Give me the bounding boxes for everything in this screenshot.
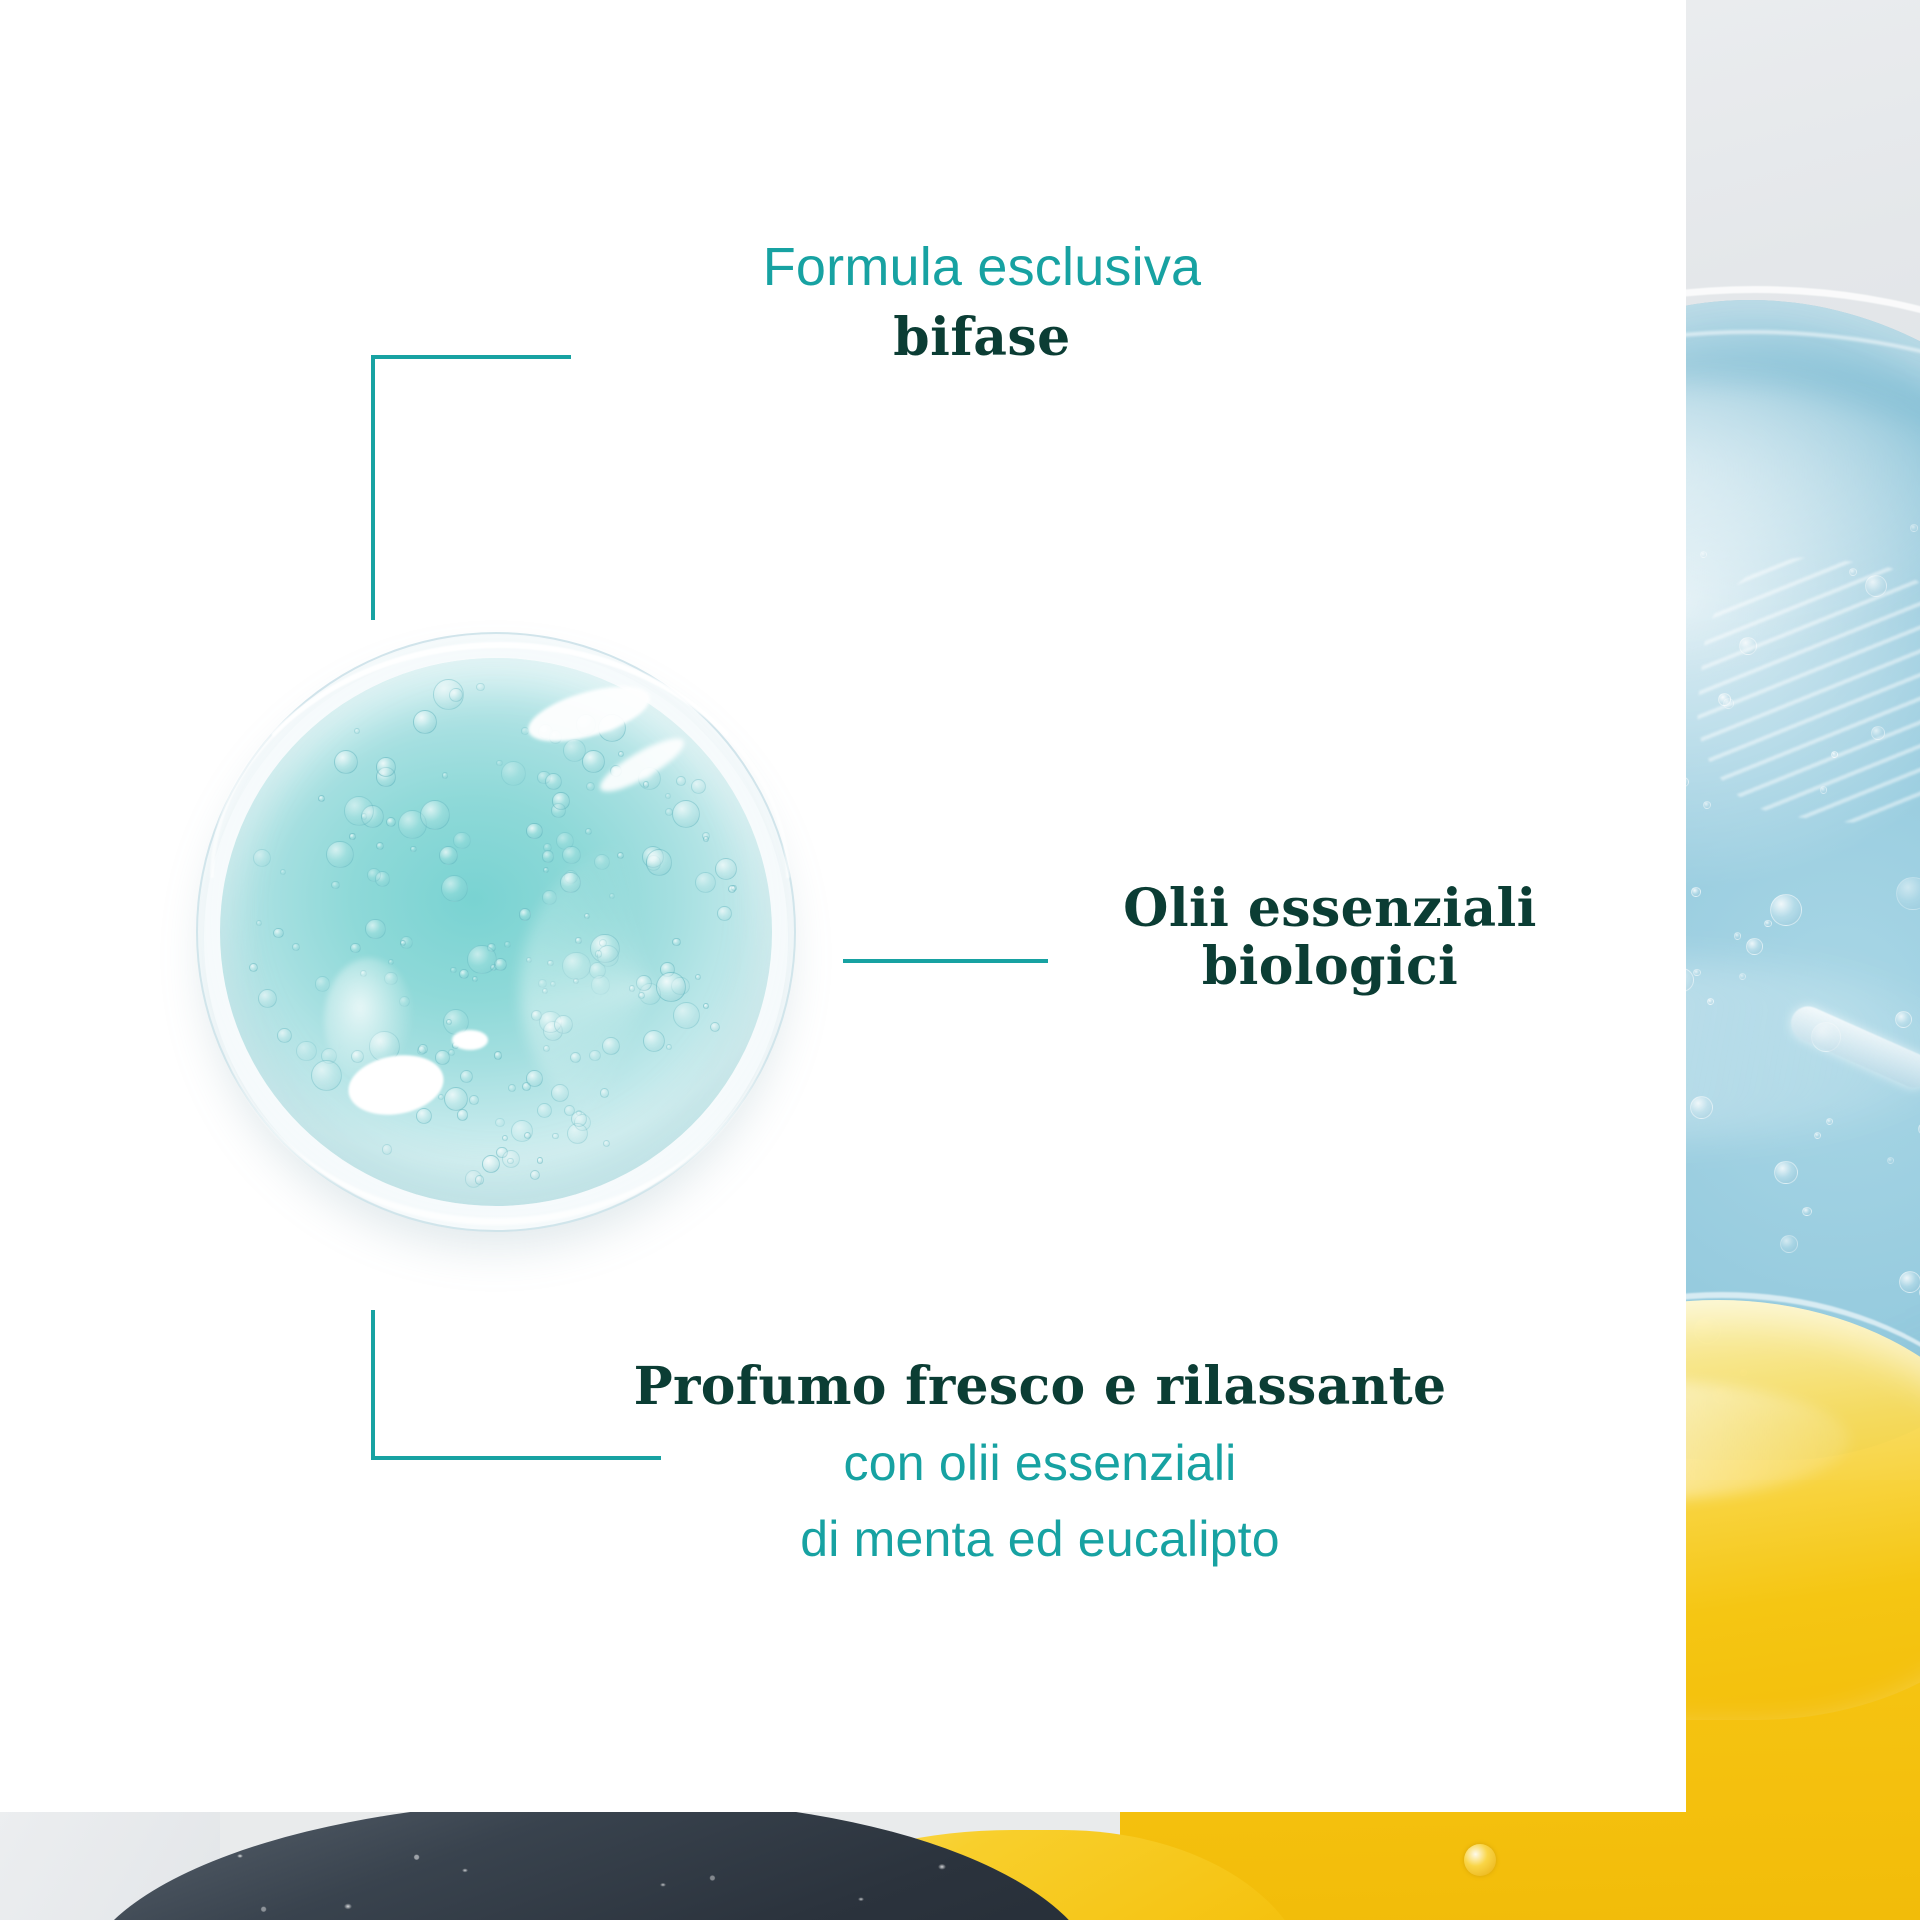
connector-top-horizontal <box>371 355 571 359</box>
gel-droplet-image <box>196 632 796 1232</box>
connector-top-vertical <box>371 355 375 620</box>
connector-bracket-middle <box>843 959 1048 963</box>
oil-bubble <box>1464 1844 1496 1876</box>
callout-bottom-line1: Profumo fresco e rilassante <box>560 1358 1520 1416</box>
callout-middle-line2: biologici <box>1050 938 1610 996</box>
callout-profumo-fresco: Profumo fresco e rilassante con olii ess… <box>560 1358 1520 1568</box>
dark-glitter-speckles <box>150 1820 1050 1920</box>
callout-middle-line1: Olii essenziali <box>1050 880 1610 938</box>
callout-olii-essenziali: Olii essenziali biologici <box>1050 880 1610 996</box>
callout-bottom-line2: con olii essenziali <box>560 1434 1520 1492</box>
callout-top-line1: Formula esclusiva <box>632 236 1332 299</box>
connector-middle-horizontal <box>843 959 1048 963</box>
callout-bottom-line3: di menta ed eucalipto <box>560 1510 1520 1568</box>
droplet-top-highlight <box>210 642 790 878</box>
connector-bottom-vertical <box>371 1310 375 1460</box>
callout-top-line2: bifase <box>632 309 1332 367</box>
connector-bracket-top <box>371 355 571 620</box>
callout-formula-bifase: Formula esclusiva bifase <box>632 236 1332 367</box>
droplet-bottom-highlight <box>216 992 776 1225</box>
